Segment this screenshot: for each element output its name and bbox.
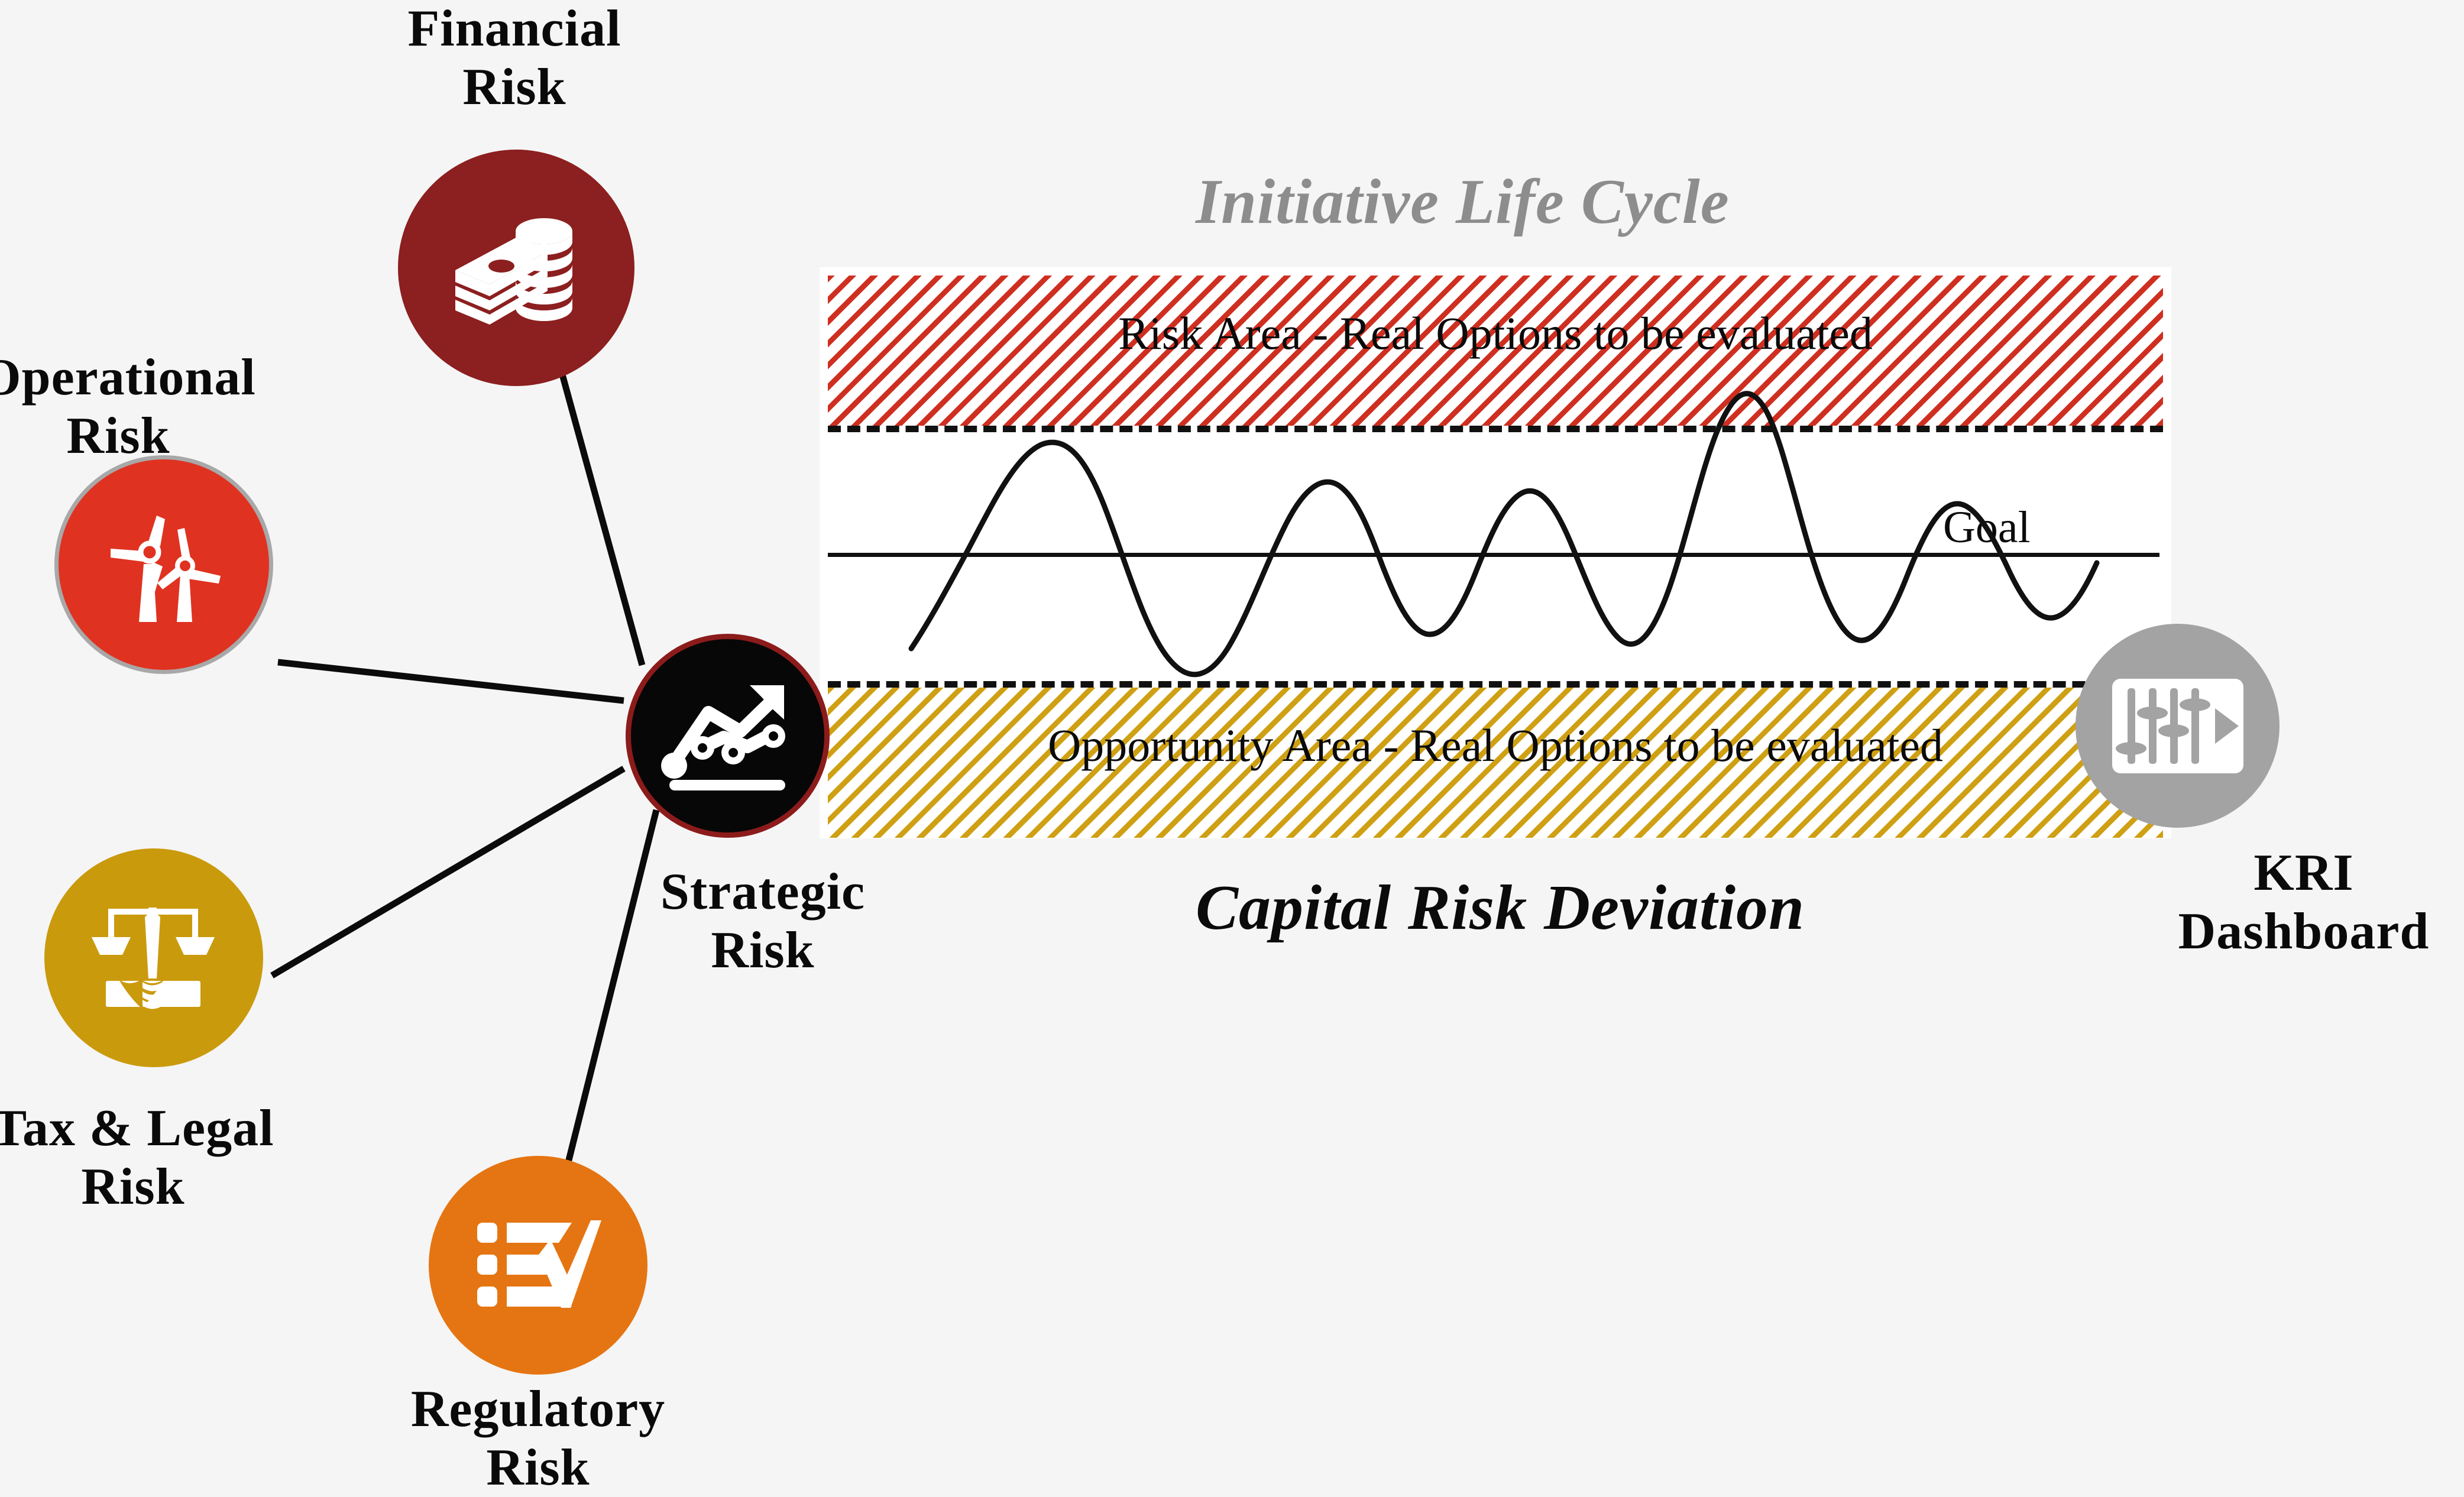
node-strategic-risk-hub[interactable] [626,634,830,838]
slider-controls-play-icon [2112,679,2243,773]
scales-of-justice-icon [86,902,222,1014]
capital-risk-deviation-title: Capital Risk Deviation [1196,871,1805,945]
node-financial-risk[interactable] [398,150,634,386]
initiative-life-cycle-title: Initiative Life Cycle [1196,166,1730,239]
diagram-canvas: Risk Area - Real Options to be evaluated… [0,0,2464,1483]
node-kri-dashboard[interactable] [2076,624,2280,828]
node-label-strategic: Strategic Risk [627,863,899,980]
capital-risk-deviation-chart: Risk Area - Real Options to be evaluated… [820,267,2171,838]
connector-hub-financial [562,372,642,665]
node-label-regulatory: Regulatory Risk [370,1381,707,1497]
node-label-financial: Financial Risk [367,0,662,116]
node-operational-risk[interactable] [54,455,273,674]
node-label-operational: Operational Risk [0,349,260,465]
money-coins-icon [448,209,584,327]
deviation-wave-series [820,267,2171,838]
connector-hub-operational [278,662,624,701]
growth-chart-arrow-icon [660,677,796,795]
node-label-kri-dashboard: KRI Dashboard [2144,844,2464,961]
checklist-check-icon [475,1218,602,1313]
node-label-tax-legal: Tax & Legal Risk [0,1100,290,1216]
node-tax-legal-risk[interactable] [44,848,263,1067]
deviation-wave-path [911,394,2097,675]
wind-turbine-icon [98,503,231,627]
connector-hub-taxlegal [272,769,624,976]
node-regulatory-risk[interactable] [429,1156,647,1375]
